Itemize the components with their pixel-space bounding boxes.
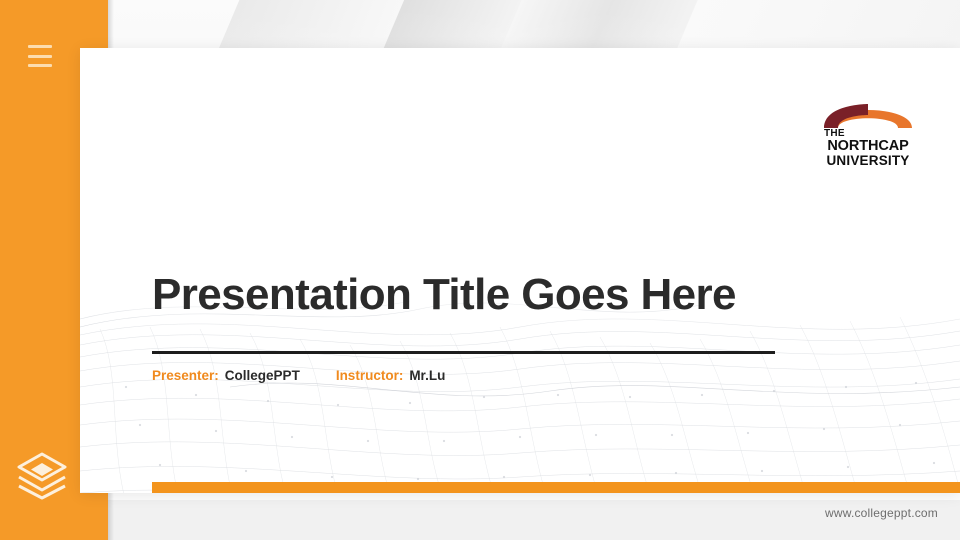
layers-stack-icon[interactable] (15, 448, 69, 502)
bottom-accent-bar (152, 482, 960, 493)
northcap-arch-icon (818, 98, 918, 128)
website-watermark: www.collegeppt.com (825, 506, 938, 520)
university-logo: THE NORTHCAP UNIVERSITY (818, 98, 918, 170)
logo-line-northcap: NORTHCAP (818, 139, 918, 154)
slide-meta: Presenter: CollegePPT Instructor: Mr.Lu (152, 368, 445, 383)
page-title: Presentation Title Goes Here (152, 270, 872, 320)
logo-line-university: UNIVERSITY (818, 154, 918, 168)
title-divider (152, 351, 775, 354)
presenter-label: Presenter: (152, 368, 219, 383)
hamburger-menu-icon[interactable] (28, 45, 52, 67)
hamburger-line-1 (28, 45, 52, 48)
presenter-value: CollegePPT (225, 368, 300, 383)
instructor-value: Mr.Lu (409, 368, 445, 383)
instructor-label: Instructor: (336, 368, 404, 383)
hamburger-line-3 (28, 64, 52, 67)
hamburger-line-2 (28, 55, 52, 58)
slide-viewer: THE NORTHCAP UNIVERSITY Presentation Tit… (0, 0, 960, 540)
logo-wordmark: THE NORTHCAP UNIVERSITY (818, 129, 918, 168)
slide-card: THE NORTHCAP UNIVERSITY Presentation Tit… (80, 48, 960, 493)
